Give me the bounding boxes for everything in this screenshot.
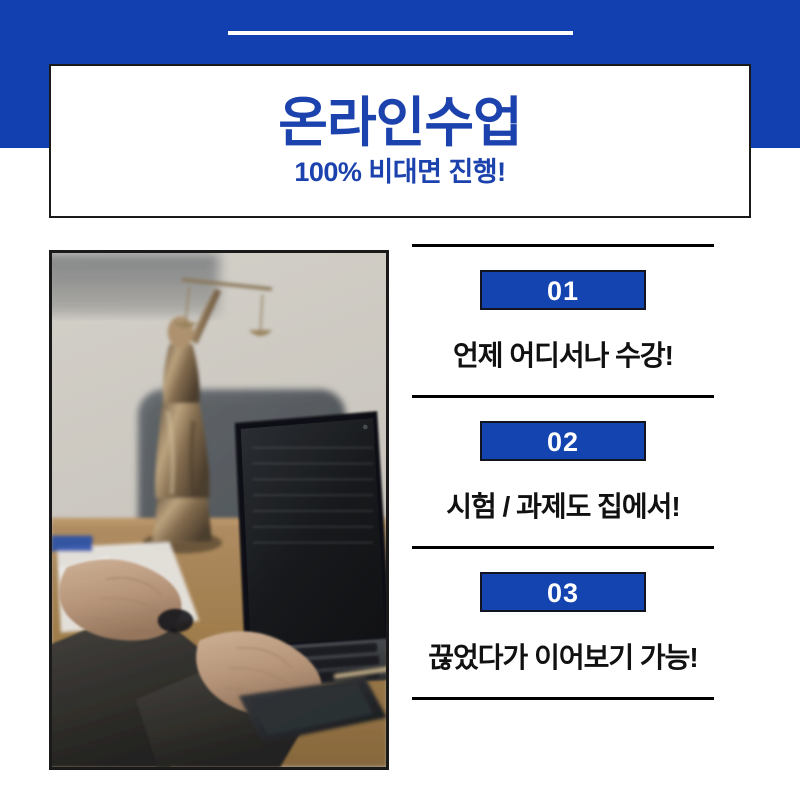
title-card: 온라인수업 100% 비대면 진행!	[49, 64, 751, 218]
laptop-justice-photo	[52, 253, 386, 767]
feature-number-badge-01: 01	[480, 270, 646, 310]
header-white-rule-icon	[228, 31, 573, 35]
feature-list: 01 언제 어디서나 수강! 02 시험 / 과제도 집에서! 03 끊었다가 …	[412, 244, 714, 700]
page-subtitle: 100% 비대면 진행!	[294, 158, 505, 188]
photo-frame	[49, 250, 389, 770]
feature-text-02: 시험 / 과제도 집에서!	[412, 485, 714, 525]
feature-text-01: 언제 어디서나 수강!	[412, 334, 714, 374]
divider-bottom	[412, 697, 714, 700]
feature-text-03: 끊었다가 이어보기 가능!	[412, 636, 714, 676]
page-title: 온라인수업	[278, 95, 521, 152]
feature-item-02: 02 시험 / 과제도 집에서!	[412, 398, 714, 546]
header-banner: 온라인수업 100% 비대면 진행!	[0, 0, 800, 230]
feature-item-01: 01 언제 어디서나 수강!	[412, 247, 714, 395]
feature-item-03: 03 끊었다가 이어보기 가능!	[412, 549, 714, 697]
feature-number-badge-03: 03	[480, 572, 646, 612]
feature-number-badge-02: 02	[480, 421, 646, 461]
content-area: 01 언제 어디서나 수강! 02 시험 / 과제도 집에서! 03 끊었다가 …	[0, 230, 800, 800]
